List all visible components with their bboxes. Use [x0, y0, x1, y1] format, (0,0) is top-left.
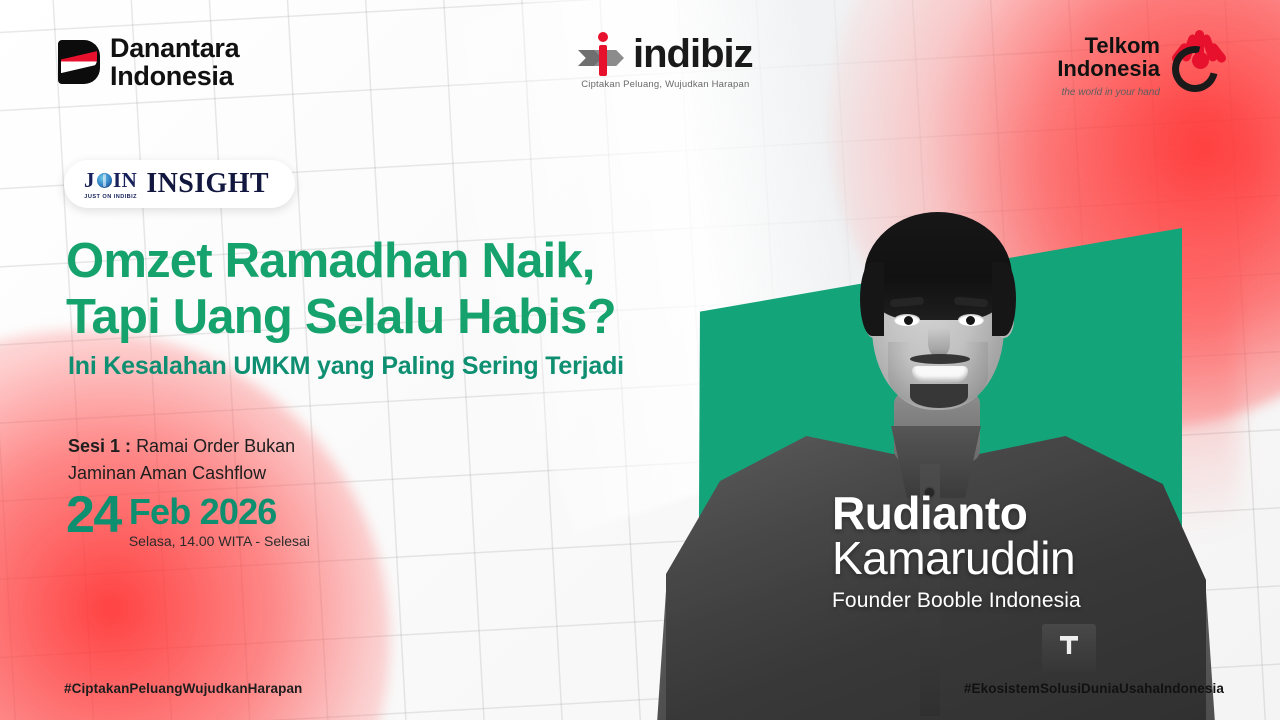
indibiz-tagline: Ciptakan Peluang, Wujudkan Harapan [578, 79, 753, 90]
photo-hair [864, 212, 1012, 320]
telkom-textbox: Telkom Indonesia the world in your hand [1057, 30, 1160, 98]
date-month-year: Feb 2026 [129, 494, 310, 530]
telkom-hand-icon [1168, 30, 1222, 80]
session-label: Sesi 1 : [68, 436, 131, 456]
badge-join-post: IN [113, 168, 137, 193]
date-detail: Selasa, 14.00 WITA - Selesai [129, 533, 310, 549]
danantara-line-1: Danantara [110, 34, 239, 62]
event-date: 24 Feb 2026 Selasa, 14.00 WITA - Selesai [66, 492, 310, 549]
danantara-wordmark: Danantara Indonesia [110, 34, 239, 90]
badge-insight-text: INSIGHT [146, 168, 269, 200]
danantara-mark-icon [58, 40, 100, 84]
photo-mouth [912, 366, 968, 382]
telkom-line-1: Telkom [1057, 34, 1160, 57]
hashtag-left: #CiptakanPeluangWujudkanHarapan [64, 681, 302, 696]
indibiz-mark-icon [578, 30, 624, 78]
telkom-line-2: Indonesia [1057, 57, 1160, 80]
photo-hair-side-left [860, 262, 884, 336]
badge-join-row: J IN [84, 168, 137, 193]
indibiz-wordmark: indibiz [633, 32, 753, 77]
speaker-info: Rudianto Kamaruddin Founder Booble Indon… [832, 490, 1252, 613]
session-title-line-2: Jaminan Aman Cashflow [68, 460, 295, 487]
join-globe-icon [97, 173, 112, 188]
hashtag-right: #EkosistemSolusiDuniaUsahaIndonesia [964, 681, 1224, 696]
telkom-dot-icon [1192, 52, 1209, 69]
indibiz-i-dot-icon [598, 32, 608, 42]
headline: Omzet Ramadhan Naik, Tapi Uang Selalu Ha… [66, 234, 616, 346]
headline-line-1: Omzet Ramadhan Naik, [66, 234, 616, 290]
photo-pupil-right [966, 316, 975, 325]
speaker-photo [636, 96, 1236, 720]
logo-telkom: Telkom Indonesia the world in your hand [1057, 30, 1222, 98]
speaker-last-name: Kamaruddin [832, 534, 1252, 583]
headline-line-2: Tapi Uang Selalu Habis? [66, 290, 616, 346]
danantara-line-2: Indonesia [110, 62, 239, 90]
logo-danantara: Danantara Indonesia [58, 34, 239, 90]
indibiz-i-stem-icon [599, 45, 607, 76]
photo-mustache [910, 354, 970, 364]
badge-join-pre: J [84, 168, 95, 193]
date-right-group: Feb 2026 Selasa, 14.00 WITA - Selesai [129, 492, 310, 549]
photo-beard [910, 384, 968, 408]
headline-subtitle: Ini Kesalahan UMKM yang Paling Sering Te… [68, 352, 624, 381]
join-insight-badge: J IN JUST ON INDIBIZ INSIGHT [64, 160, 295, 208]
session-line-1: Sesi 1 : Ramai Order Bukan [68, 433, 295, 460]
telkom-tagline: the world in your hand [1057, 87, 1160, 98]
badge-subtext: JUST ON INDIBIZ [84, 194, 137, 200]
photo-pupil-left [904, 316, 913, 325]
event-poster: Danantara Indonesia indibiz Ciptakan Pel… [0, 0, 1280, 720]
session-info: Sesi 1 : Ramai Order Bukan Jaminan Aman … [68, 433, 295, 487]
badge-join-group: J IN JUST ON INDIBIZ [84, 168, 137, 200]
logo-indibiz: indibiz Ciptakan Peluang, Wujudkan Harap… [578, 30, 753, 90]
speaker-first-name: Rudianto [832, 490, 1252, 536]
date-day: 24 [66, 492, 121, 540]
photo-hair-side-right [992, 262, 1016, 336]
telkom-wordmark: Telkom Indonesia [1057, 34, 1160, 80]
speaker-role: Founder Booble Indonesia [832, 589, 1252, 613]
indibiz-row: indibiz [578, 30, 753, 78]
session-title-line-1: Ramai Order Bukan [136, 436, 295, 456]
